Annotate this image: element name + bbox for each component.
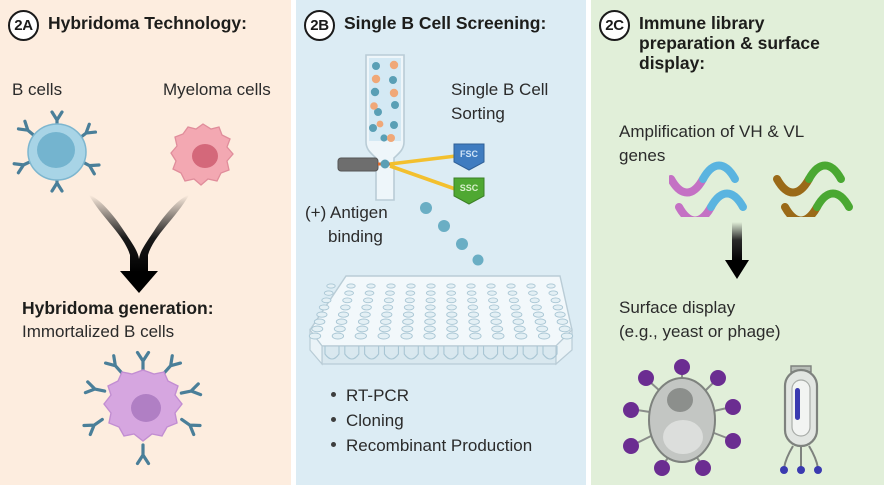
merge-arrow-head	[120, 271, 158, 293]
plate-well	[491, 319, 502, 324]
plate-well	[405, 298, 414, 303]
phage-inner	[792, 380, 810, 436]
plate-well	[508, 291, 517, 295]
ssc-label: SSC	[460, 183, 479, 193]
plate-well	[511, 305, 521, 310]
plate-well	[324, 291, 333, 295]
down-arrow	[722, 222, 752, 280]
plate-well	[367, 284, 375, 288]
laser-source	[338, 158, 378, 171]
antibody-icon	[85, 382, 105, 397]
panel-c-header: 2C Immune library preparation & surface …	[599, 10, 877, 74]
plate-well	[468, 312, 478, 317]
plate-well	[559, 326, 570, 332]
antigen-cell	[438, 220, 450, 232]
antigen-cell	[420, 202, 432, 214]
label-single-b-cell-sorting-line2: Sorting	[451, 104, 505, 124]
plate-well	[404, 305, 414, 310]
antibody-icon	[84, 415, 105, 435]
antigen-binding-cells	[416, 198, 496, 268]
plate-well	[467, 284, 475, 288]
plate-well	[549, 291, 558, 295]
panel-immune-library-surface-display: 2C Immune library preparation & surface …	[591, 0, 884, 485]
plate-well	[447, 319, 458, 324]
plate-well	[535, 319, 546, 324]
flow-cytometer-illustration: FSC SSC	[336, 50, 586, 210]
plate-well	[312, 326, 323, 332]
yeast-display-illustration	[617, 358, 747, 480]
plate-well	[343, 298, 352, 303]
myeloma-nucleus	[192, 144, 218, 168]
plate-well	[378, 333, 389, 339]
plate-well	[447, 305, 457, 310]
plate-well	[345, 291, 354, 295]
panel-hybridoma-technology: 2A Hybridoma Technology: B cells Myeloma…	[0, 0, 291, 485]
plate-well	[379, 326, 390, 332]
fsc-label: FSC	[460, 149, 479, 159]
gene-vl-brown	[777, 179, 809, 193]
plate-well	[309, 333, 320, 339]
phage-tail-fibers	[784, 446, 818, 468]
ssc-beam	[390, 166, 458, 190]
plate-well	[384, 298, 393, 303]
plate-well	[383, 305, 393, 310]
hybridoma-cell-illustration	[78, 348, 208, 473]
plate-well	[407, 284, 415, 288]
flow-cytometer-svg: FSC SSC	[336, 50, 586, 210]
plate-well	[512, 312, 522, 317]
bullet-item: RT-PCR	[346, 383, 532, 408]
label-hybridoma-generation: Hybridoma generation:	[22, 298, 214, 318]
plate-well	[551, 298, 560, 303]
plate-well	[426, 291, 435, 295]
plate-well	[533, 312, 543, 317]
plate-well	[425, 319, 436, 324]
gene-squiggles	[669, 155, 869, 217]
plate-well	[402, 326, 413, 332]
antigen-cell	[473, 255, 484, 266]
plate-well	[338, 312, 348, 317]
plate-well	[537, 326, 548, 332]
antibody-icon	[138, 445, 149, 464]
plate-well	[447, 298, 456, 303]
phage-tail-tips	[780, 466, 822, 474]
b-cell-svg	[2, 105, 122, 205]
myeloma-cell-illustration	[163, 118, 243, 198]
plate-well	[509, 298, 518, 303]
plate-well	[362, 305, 372, 310]
label-antigen-binding-line1: (+) Antigen	[305, 203, 388, 223]
plate-well	[555, 312, 565, 317]
antigen-cell	[456, 238, 468, 250]
plate-well	[364, 298, 373, 303]
plate-well	[557, 319, 568, 324]
panel-a-title: Hybridoma Technology:	[48, 14, 247, 34]
plate-well	[319, 305, 329, 310]
label-single-b-cell-sorting-line1: Single B Cell	[451, 80, 548, 100]
plate-well	[403, 312, 413, 317]
gene-squiggles-svg	[669, 155, 869, 217]
plate-well	[492, 326, 503, 332]
antibody-icon	[179, 415, 200, 435]
panel-badge-2b: 2B	[304, 10, 335, 41]
plate-well	[360, 312, 370, 317]
plate-well	[447, 312, 457, 317]
fsc-detector: FSC	[454, 144, 484, 170]
b-cell-illustration	[2, 105, 122, 205]
panel-c-title: Immune library preparation & surface dis…	[639, 14, 839, 74]
well-plate-illustration	[308, 272, 576, 372]
figure-container: 2A Hybridoma Technology: B cells Myeloma…	[0, 0, 884, 485]
sorted-cell	[381, 160, 390, 169]
gene-vl-brown	[785, 207, 817, 217]
label-amplification-line1: Amplification of VH & VL	[619, 122, 804, 142]
merge-arrow-svg	[84, 193, 194, 295]
label-surface-display-line1: Surface display	[619, 298, 735, 318]
yeast-vacuole	[663, 420, 703, 454]
plate-well	[493, 333, 504, 339]
antibody-icon	[138, 353, 149, 372]
plate-well	[347, 284, 355, 288]
phage-dna	[795, 388, 800, 420]
plate-well	[403, 319, 414, 324]
plate-well	[447, 284, 455, 288]
plate-well	[341, 305, 351, 310]
hybridoma-nucleus	[131, 394, 161, 422]
fsc-beam	[390, 156, 456, 164]
label-b-cells: B cells	[12, 80, 62, 100]
plate-well	[530, 298, 539, 303]
plate-well	[468, 305, 478, 310]
arrow-shaft	[732, 222, 742, 262]
plate-well	[317, 312, 327, 317]
gene-vl-purple	[671, 179, 703, 193]
hybridoma-cell-svg	[78, 348, 208, 473]
panel-b-header: 2B Single B Cell Screening:	[304, 10, 584, 41]
label-immortalized-b-cells: Immortalized B cells	[22, 322, 174, 342]
plate-well	[381, 319, 392, 324]
plate-well	[332, 333, 343, 339]
plate-well	[488, 291, 497, 295]
label-myeloma-cells: Myeloma cells	[163, 80, 271, 100]
plate-well	[327, 284, 335, 288]
plate-well	[357, 326, 368, 332]
plate-well	[386, 291, 395, 295]
plate-well	[425, 312, 435, 317]
gene-vh-blue	[711, 194, 743, 208]
plate-well	[365, 291, 374, 295]
label-amplification-line2: genes	[619, 146, 665, 166]
yeast-nucleus	[667, 388, 693, 412]
antigen-cells-svg	[416, 198, 496, 268]
plate-well	[334, 326, 345, 332]
plate-well	[358, 319, 369, 324]
plate-well	[467, 291, 476, 295]
plate-well	[426, 298, 435, 303]
plate-well	[427, 284, 435, 288]
plate-well	[406, 291, 415, 295]
plate-well	[514, 326, 525, 332]
plate-well	[336, 319, 347, 324]
plate-well	[447, 326, 458, 332]
plate-well	[447, 291, 456, 295]
myeloma-cell-svg	[163, 118, 243, 198]
plate-well	[547, 284, 555, 288]
panel-badge-2c: 2C	[599, 10, 630, 41]
plate-well	[513, 319, 524, 324]
plate-well	[527, 284, 535, 288]
plate-well	[401, 333, 412, 339]
down-arrow-svg	[722, 222, 752, 280]
merge-arrow	[84, 193, 194, 295]
plate-well	[538, 333, 549, 339]
plate-well	[469, 326, 480, 332]
plate-well	[447, 333, 458, 339]
panel-b-bullet-list: RT-PCR Cloning Recombinant Production	[324, 383, 532, 458]
arrow-head	[725, 260, 749, 279]
yeast-svg	[617, 358, 747, 480]
bullet-item: Cloning	[346, 408, 532, 433]
plate-well	[516, 333, 527, 339]
b-cell-nucleus	[37, 132, 75, 168]
panel-single-b-cell-screening: 2B Single B Cell Screening:	[296, 0, 586, 485]
plate-well	[507, 284, 515, 288]
well-plate-svg	[308, 272, 576, 372]
plate-well	[561, 333, 572, 339]
plate-well	[387, 284, 395, 288]
bullet-item: Recombinant Production	[346, 433, 532, 458]
panel-a-header: 2A Hybridoma Technology:	[8, 10, 286, 41]
plate-well	[489, 298, 498, 303]
gene-vh-green	[817, 194, 849, 208]
plate-well	[468, 298, 477, 303]
panel-badge-2a: 2A	[8, 10, 39, 41]
plate-well	[532, 305, 542, 310]
plate-side	[322, 346, 556, 364]
phage-display-illustration	[761, 360, 841, 480]
gene-vl-purple	[679, 207, 711, 217]
plate-well	[424, 326, 435, 332]
merge-arrow-shape	[89, 195, 189, 273]
label-surface-display-line2: (e.g., yeast or phage)	[619, 322, 781, 342]
label-antigen-binding-line2: binding	[328, 227, 383, 247]
panel-b-title: Single B Cell Screening:	[344, 14, 546, 34]
plate-well	[470, 333, 481, 339]
gene-vh-green	[809, 166, 841, 180]
gene-vh-blue	[703, 166, 735, 180]
plate-well	[322, 298, 331, 303]
plate-well	[490, 312, 500, 317]
plate-well	[489, 305, 499, 310]
plate-well	[487, 284, 495, 288]
phage-svg	[761, 360, 841, 480]
plate-well	[424, 333, 435, 339]
plate-well	[314, 319, 325, 324]
plate-well	[355, 333, 366, 339]
plate-well	[469, 319, 480, 324]
plate-well	[426, 305, 436, 310]
antibody-icon	[180, 384, 200, 399]
plate-well	[553, 305, 563, 310]
plate-well	[382, 312, 392, 317]
plate-well	[529, 291, 538, 295]
